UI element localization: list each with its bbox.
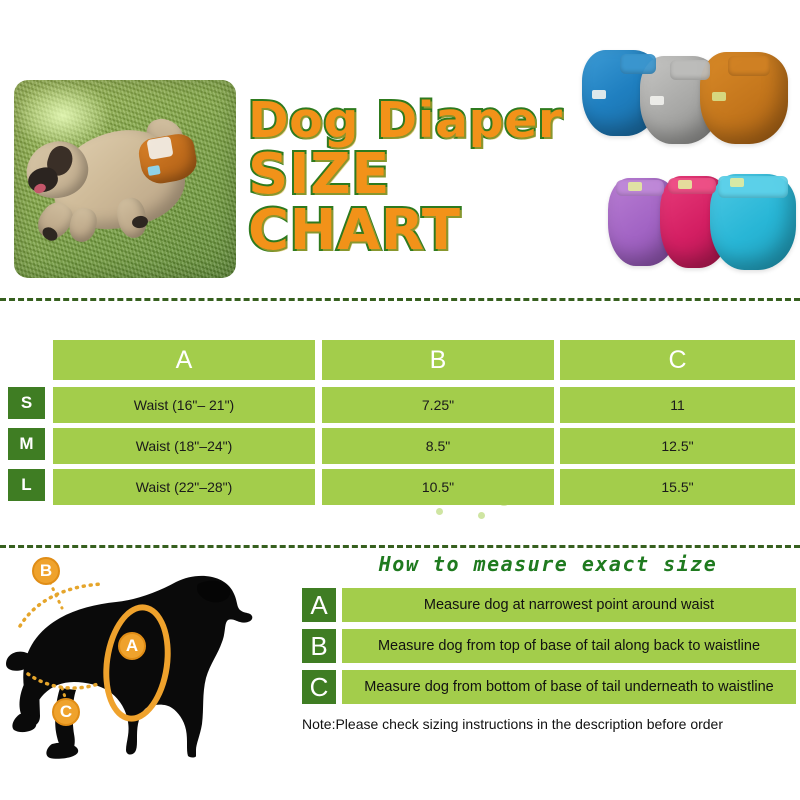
- how-to-measure-panel: How to measure exact size A Measure dog …: [296, 548, 800, 798]
- measure-text-b: Measure dog from top of base of tail alo…: [342, 629, 796, 663]
- decorative-speck: [436, 508, 443, 515]
- page-title: Dog Diaper SIZE CHART: [248, 96, 600, 259]
- product-photo-top-row: [578, 34, 798, 144]
- cell-m-a: Waist (18"–24"): [53, 428, 315, 464]
- diaper-gray-flap: [670, 60, 710, 80]
- decorative-speck: [478, 512, 485, 519]
- badge-c-icon: C: [52, 698, 80, 726]
- diaper-blue-flap: [620, 54, 656, 74]
- measure-instruction-b: B Measure dog from top of base of tail a…: [302, 629, 796, 663]
- pug-diaper-strap: [146, 136, 173, 160]
- measure-text-c: Measure dog from bottom of base of tail …: [342, 670, 796, 704]
- diaper-cyan-flap: [718, 176, 788, 198]
- measurement-section: B A C How to measure exact size A Measur…: [0, 548, 800, 800]
- measure-badge-c: C: [302, 670, 336, 704]
- diaper-purple-label: [628, 182, 642, 191]
- badge-b-icon: B: [32, 557, 60, 585]
- title-line-size-chart: SIZE CHART: [248, 147, 600, 259]
- cell-s-a: Waist (16"– 21"): [53, 387, 315, 423]
- measure-instruction-a: A Measure dog at narrowest point around …: [302, 588, 796, 622]
- measure-badge-a: A: [302, 588, 336, 622]
- pug-paw: [131, 215, 149, 230]
- decorative-speck: [500, 502, 508, 506]
- diaper-cyan-label: [730, 178, 744, 187]
- size-badge-s: S: [8, 387, 45, 419]
- divider-top: [0, 298, 800, 301]
- product-photo-bottom-row: [606, 166, 798, 278]
- measure-badge-b: B: [302, 629, 336, 663]
- diaper-pink-flap: [668, 178, 716, 194]
- cell-s-c: 11: [560, 387, 795, 423]
- column-header-a: A: [53, 340, 315, 380]
- column-header-b: B: [322, 340, 554, 380]
- column-header-c: C: [560, 340, 795, 380]
- diaper-orange-label: [712, 92, 726, 101]
- measure-text-a: Measure dog at narrowest point around wa…: [342, 588, 796, 622]
- measure-instruction-c: C Measure dog from bottom of base of tai…: [302, 670, 796, 704]
- sizing-note: Note:Please check sizing instructions in…: [302, 716, 796, 732]
- dog-measurement-diagram: B A C: [0, 548, 296, 798]
- header-section: Dog Diaper SIZE CHART: [0, 0, 800, 298]
- table-row: L Waist (22"–28") 10.5" 15.5": [0, 469, 800, 505]
- cell-m-b: 8.5": [322, 428, 554, 464]
- title-line-dog-diaper: Dog Diaper: [248, 96, 600, 145]
- diaper-orange-flap: [728, 56, 770, 76]
- pug-photo: [14, 80, 236, 278]
- size-badge-l: L: [8, 469, 45, 501]
- cell-l-c: 15.5": [560, 469, 795, 505]
- table-row: S Waist (16"– 21") 7.25" 11: [0, 387, 800, 423]
- cell-m-c: 12.5": [560, 428, 795, 464]
- cell-l-b: 10.5": [322, 469, 554, 505]
- diaper-gray-label: [650, 96, 664, 105]
- diaper-pink-label: [678, 180, 692, 189]
- table-header-row: A B C: [0, 340, 800, 376]
- cell-l-a: Waist (22"–28"): [53, 469, 315, 505]
- cell-s-b: 7.25": [322, 387, 554, 423]
- table-row: M Waist (18"–24") 8.5" 12.5": [0, 428, 800, 464]
- size-chart-table: A B C S Waist (16"– 21") 7.25" 11 M Wais…: [0, 340, 800, 500]
- badge-a-icon: A: [118, 632, 146, 660]
- diaper-blue-label: [592, 90, 606, 99]
- how-to-measure-title: How to measure exact size: [296, 552, 800, 576]
- size-badge-m: M: [8, 428, 45, 460]
